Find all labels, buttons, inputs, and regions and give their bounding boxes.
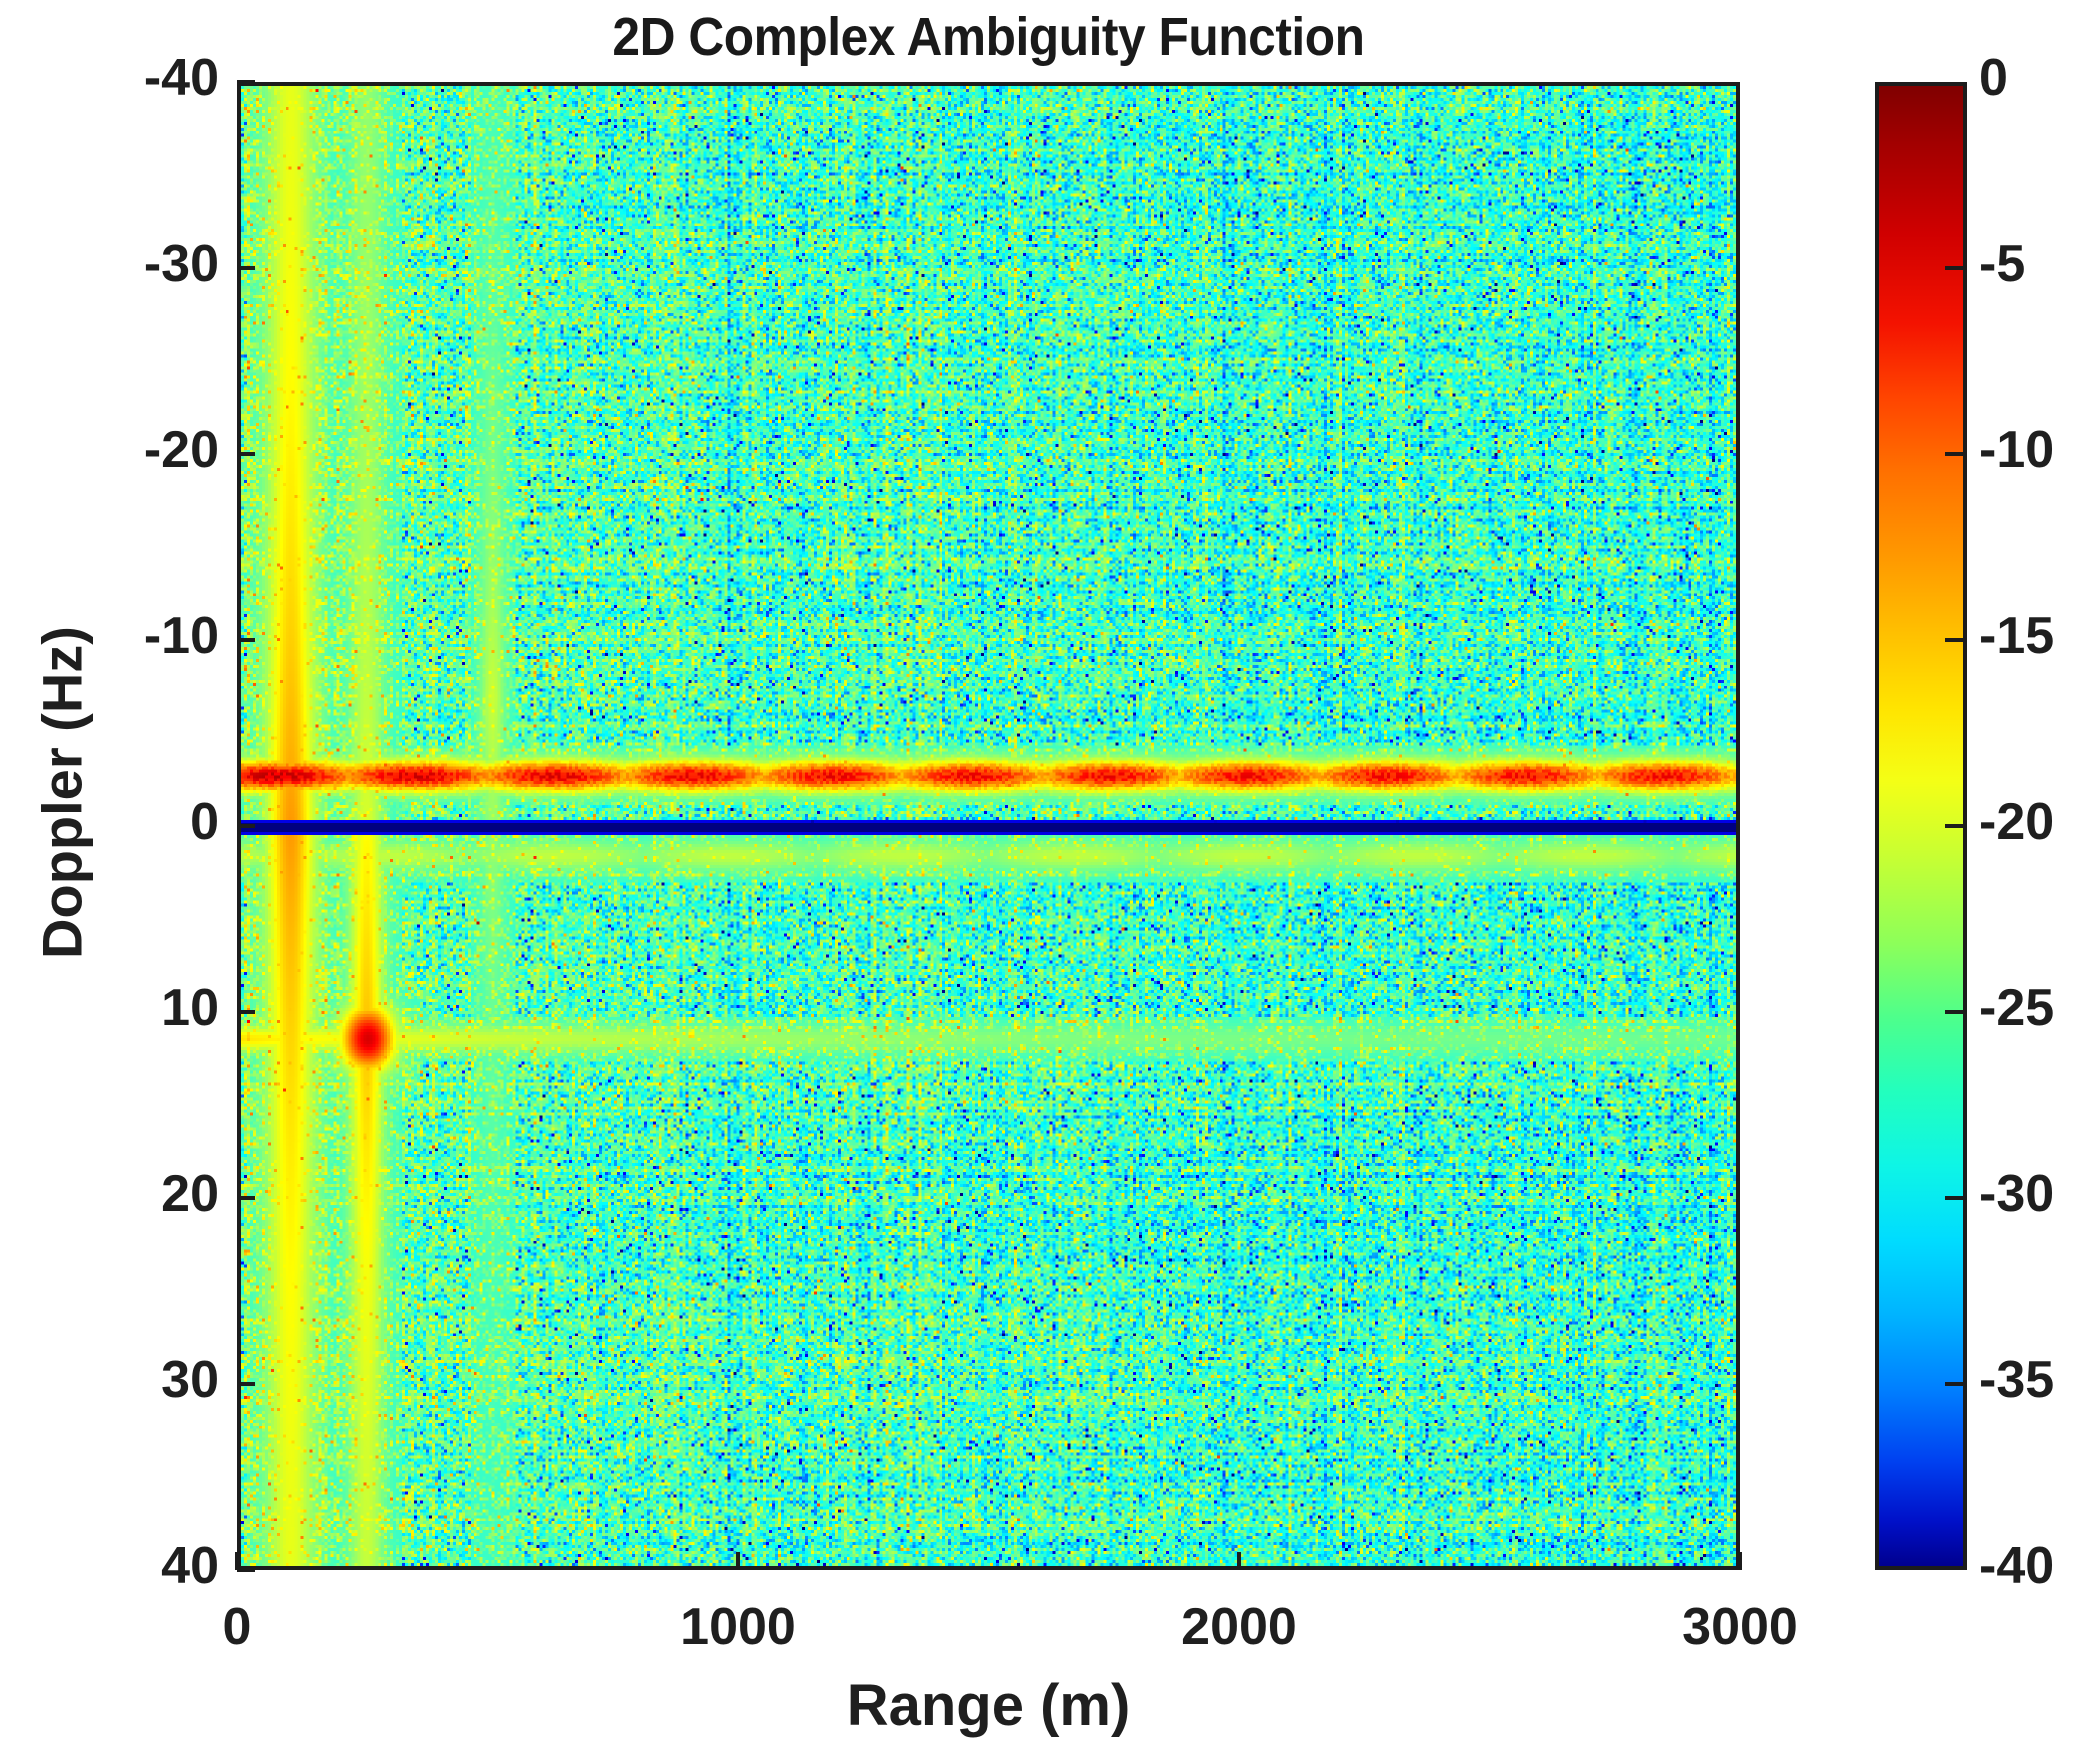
x-tick-label: 3000 <box>1590 1597 1890 1657</box>
colorbar-tick-mark <box>1945 1382 1967 1386</box>
y-tick-label: -40 <box>144 48 219 108</box>
colorbar: 0-5-10-15-20-25-30-35-40 <box>1875 82 1967 1570</box>
colorbar-tick-mark <box>1945 638 1967 642</box>
x-tick-label: 0 <box>87 1597 387 1657</box>
x-tick-mark <box>235 1552 239 1570</box>
colorbar-tick-mark <box>1945 1196 1967 1200</box>
page-title: 2D Complex Ambiguity Function <box>297 2 1680 72</box>
y-tick-mark <box>237 1196 255 1200</box>
y-tick-mark <box>237 1010 255 1014</box>
colorbar-tick-label: -35 <box>1979 1350 2054 1410</box>
colorbar-tick-label: -25 <box>1979 978 2054 1038</box>
y-tick-mark <box>237 1382 255 1386</box>
y-tick-mark <box>237 80 255 84</box>
colorbar-tick-label: -20 <box>1979 792 2054 852</box>
colorbar-tick-label: -15 <box>1979 606 2054 666</box>
x-axis-label: Range (m) <box>237 1672 1740 1739</box>
heatmap-plot-area <box>237 82 1740 1570</box>
y-tick-mark <box>237 638 255 642</box>
y-tick-label: 10 <box>161 978 219 1038</box>
colorbar-tick-mark <box>1945 452 1967 456</box>
colorbar-tick-mark <box>1945 266 1967 270</box>
y-axis-label: Doppler (Hz) <box>30 413 95 1173</box>
colorbar-tick-mark <box>1945 1010 1967 1014</box>
y-tick-label: 40 <box>161 1536 219 1596</box>
y-tick-label: 0 <box>190 792 219 852</box>
y-tick-mark <box>237 824 255 828</box>
y-tick-label: 20 <box>161 1164 219 1224</box>
x-tick-mark <box>1237 1552 1241 1570</box>
colorbar-tick-label: 0 <box>1979 48 2008 108</box>
y-tick-mark <box>237 266 255 270</box>
y-tick-label: -30 <box>144 234 219 294</box>
ambiguity-function-figure: 2D Complex Ambiguity Function Doppler (H… <box>0 0 2100 1762</box>
colorbar-tick-label: -40 <box>1979 1536 2054 1596</box>
x-tick-label: 2000 <box>1089 1597 1389 1657</box>
colorbar-tick-label: -5 <box>1979 234 2025 294</box>
x-tick-mark <box>736 1552 740 1570</box>
y-tick-label: -10 <box>144 606 219 666</box>
y-tick-label: -20 <box>144 420 219 480</box>
x-tick-mark <box>1738 1552 1742 1570</box>
x-tick-label: 1000 <box>588 1597 888 1657</box>
colorbar-tick-label: -30 <box>1979 1164 2054 1224</box>
heatmap-canvas <box>241 86 1736 1566</box>
y-tick-mark <box>237 452 255 456</box>
colorbar-tick-label: -10 <box>1979 420 2054 480</box>
y-tick-label: 30 <box>161 1350 219 1410</box>
colorbar-tick-mark <box>1945 824 1967 828</box>
y-tick-mark <box>237 1568 255 1572</box>
